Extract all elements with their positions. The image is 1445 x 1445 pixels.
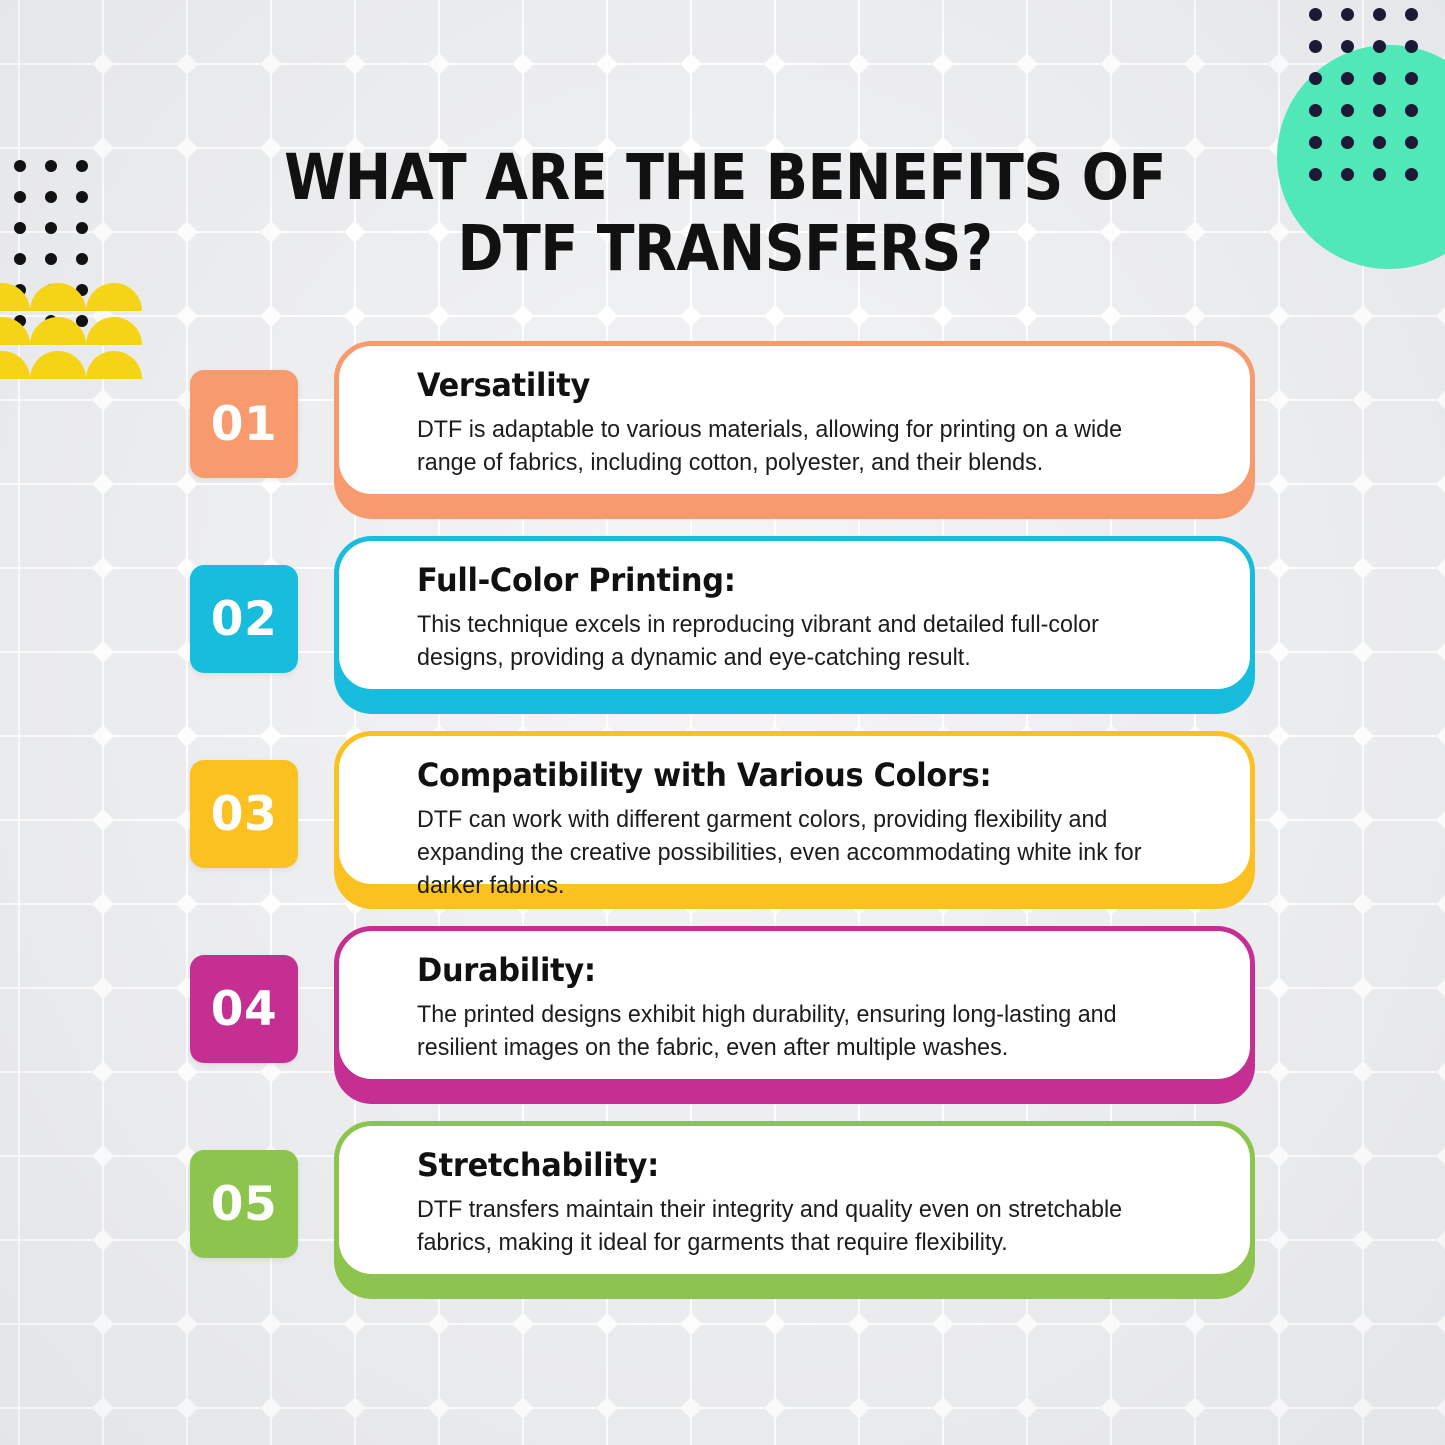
decorative-dot — [14, 160, 26, 172]
decorative-dot — [76, 253, 88, 265]
benefit-row: 04Durability:The printed designs exhibit… — [0, 926, 1445, 1121]
decorative-dot — [1373, 72, 1386, 85]
decorative-dot — [14, 191, 26, 203]
benefit-card: VersatilityDTF is adaptable to various m… — [334, 341, 1255, 499]
decorative-dot — [76, 160, 88, 172]
benefit-card-title: Durability: — [417, 951, 1180, 989]
decorative-dot — [1341, 8, 1354, 21]
decorative-dot — [1309, 72, 1322, 85]
decorative-dot — [76, 315, 88, 327]
decorative-dot — [45, 315, 57, 327]
decorative-dot — [14, 284, 26, 296]
benefit-card-title: Versatility — [417, 366, 1180, 404]
benefit-card-wrapper: Full-Color Printing:This technique excel… — [334, 536, 1255, 714]
decorative-dot — [1309, 168, 1322, 181]
decorative-dot — [1341, 168, 1354, 181]
decorative-dot — [1405, 104, 1418, 117]
benefit-row: 01VersatilityDTF is adaptable to various… — [0, 341, 1445, 536]
half-circle-row — [0, 283, 142, 311]
benefit-card: Compatibility with Various Colors:DTF ca… — [334, 731, 1255, 889]
decorative-dot — [76, 222, 88, 234]
benefit-card-description: This technique excels in reproducing vib… — [417, 609, 1180, 674]
benefit-card-description: DTF can work with different garment colo… — [417, 804, 1180, 902]
decorative-dot — [1341, 72, 1354, 85]
benefit-card-wrapper: VersatilityDTF is adaptable to various m… — [334, 341, 1255, 519]
decorative-dot — [1309, 40, 1322, 53]
decorative-dot — [1373, 136, 1386, 149]
benefit-card-description: DTF transfers maintain their integrity a… — [417, 1194, 1180, 1259]
decorative-dot — [1405, 8, 1418, 21]
benefit-card: Stretchability:DTF transfers maintain th… — [334, 1121, 1255, 1279]
decorative-dot — [45, 160, 57, 172]
benefit-card-title: Full-Color Printing: — [417, 561, 1180, 599]
dot-grid-top-right-decoration — [1309, 8, 1437, 200]
benefit-number-badge: 02 — [190, 565, 298, 673]
decorative-dot — [45, 284, 57, 296]
decorative-dot — [1405, 72, 1418, 85]
benefit-number-badge: 05 — [190, 1150, 298, 1258]
half-circle-shape — [86, 283, 142, 311]
benefit-card-wrapper: Compatibility with Various Colors:DTF ca… — [334, 731, 1255, 909]
benefit-number-badge: 03 — [190, 760, 298, 868]
decorative-dot — [1405, 136, 1418, 149]
decorative-dot — [14, 222, 26, 234]
benefit-card-description: DTF is adaptable to various materials, a… — [417, 414, 1180, 479]
decorative-dot — [1373, 168, 1386, 181]
benefit-number-badge: 01 — [190, 370, 298, 478]
half-circle-shape — [30, 283, 86, 311]
decorative-dot — [1309, 136, 1322, 149]
decorative-dot — [1373, 104, 1386, 117]
benefit-row: 05Stretchability:DTF transfers maintain … — [0, 1121, 1445, 1316]
benefit-card-wrapper: Durability:The printed designs exhibit h… — [334, 926, 1255, 1104]
decorative-dot — [45, 253, 57, 265]
decorative-dot — [1341, 104, 1354, 117]
benefits-list: 01VersatilityDTF is adaptable to various… — [0, 341, 1445, 1316]
decorative-dot — [14, 315, 26, 327]
decorative-dot — [1309, 104, 1322, 117]
teal-circle-decoration — [1277, 45, 1445, 269]
decorative-dot — [1405, 40, 1418, 53]
benefit-card-wrapper: Stretchability:DTF transfers maintain th… — [334, 1121, 1255, 1299]
page-title: WHAT ARE THE BENEFITS OF DTF TRANSFERS? — [245, 142, 1204, 284]
decorative-dot — [45, 191, 57, 203]
dot-grid-left-decoration — [14, 160, 107, 346]
benefit-card-description: The printed designs exhibit high durabil… — [417, 999, 1180, 1064]
benefit-card-title: Compatibility with Various Colors: — [417, 756, 1180, 794]
decorative-dot — [1341, 40, 1354, 53]
decorative-dot — [76, 191, 88, 203]
decorative-dot — [1373, 8, 1386, 21]
benefit-card: Durability:The printed designs exhibit h… — [334, 926, 1255, 1084]
decorative-dot — [1309, 8, 1322, 21]
decorative-dot — [45, 222, 57, 234]
decorative-dot — [1341, 136, 1354, 149]
benefit-card: Full-Color Printing:This technique excel… — [334, 536, 1255, 694]
benefit-row: 02Full-Color Printing:This technique exc… — [0, 536, 1445, 731]
decorative-dot — [1405, 168, 1418, 181]
decorative-dot — [14, 253, 26, 265]
half-circle-shape — [0, 283, 30, 311]
benefit-card-title: Stretchability: — [417, 1146, 1180, 1184]
decorative-dot — [76, 284, 88, 296]
benefit-number-badge: 04 — [190, 955, 298, 1063]
benefit-row: 03Compatibility with Various Colors:DTF … — [0, 731, 1445, 926]
decorative-dot — [1373, 40, 1386, 53]
